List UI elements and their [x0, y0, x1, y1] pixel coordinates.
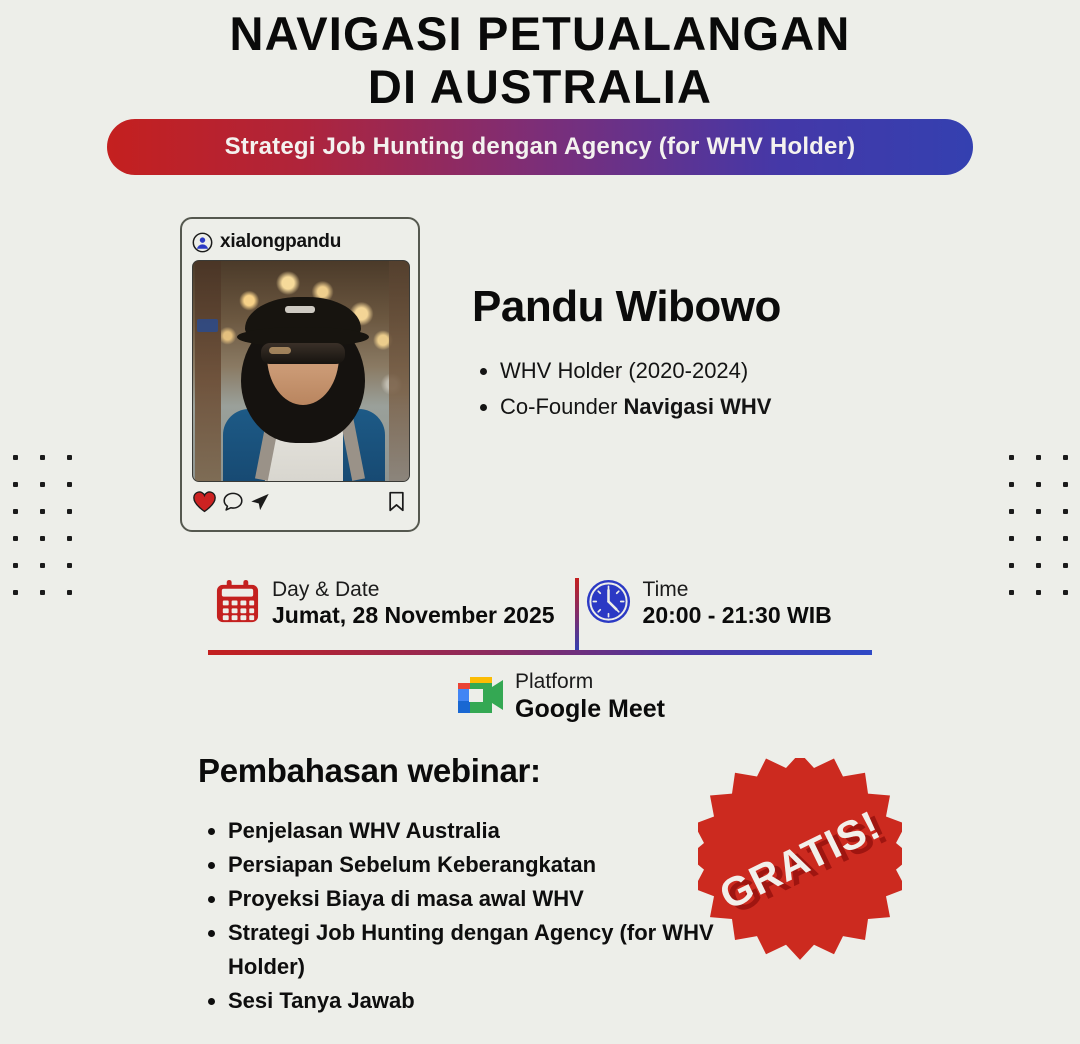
list-item: Co-Founder Navigasi WHV [500, 389, 992, 424]
dot [13, 536, 18, 541]
subtitle-text: Strategi Job Hunting dengan Agency (for … [225, 133, 856, 161]
dot [40, 482, 45, 487]
dot [1036, 590, 1041, 595]
event-date-label: Day & Date [272, 578, 555, 602]
dot [67, 536, 72, 541]
dot [13, 563, 18, 568]
status-badge: GRATIS! [698, 758, 902, 962]
list-item: Penjelasan WHV Australia [228, 814, 718, 848]
clock-icon [585, 578, 632, 630]
event-details-strip: Day & Date Jumat, 28 November 2025 [208, 578, 872, 660]
calendar-icon [214, 578, 261, 630]
credential-bold: Navigasi WHV [624, 394, 772, 419]
photo-sunglasses [261, 343, 345, 364]
platform-value: Google Meet [515, 694, 665, 724]
dot [1009, 590, 1014, 595]
speaker-photo [192, 260, 410, 482]
dot [67, 482, 72, 487]
dot [1063, 482, 1068, 487]
speaker-name: Pandu Wibowo [472, 283, 992, 331]
dot [67, 509, 72, 514]
dot [40, 455, 45, 460]
title-line-1: NAVIGASI PETUALANGAN [0, 8, 1080, 61]
photo-street-sign [197, 319, 218, 332]
google-meet-icon [452, 673, 504, 722]
platform-label: Platform [515, 670, 665, 694]
dot [1063, 563, 1068, 568]
dot [1036, 482, 1041, 487]
agenda-list: Penjelasan WHV Australia Persiapan Sebel… [198, 814, 718, 1019]
decorative-dots-left [0, 455, 72, 595]
dot [13, 482, 18, 487]
list-item: WHV Holder (2020-2024) [500, 353, 992, 388]
agenda-title: Pembahasan webinar: [198, 752, 718, 790]
vertical-divider [575, 578, 579, 650]
list-item: Persiapan Sebelum Keberangkatan [228, 848, 718, 882]
event-date-block: Day & Date Jumat, 28 November 2025 [214, 578, 555, 630]
instagram-card-header: xialongpandu [192, 228, 408, 256]
dot [1009, 455, 1014, 460]
dot [1063, 536, 1068, 541]
event-time-label: Time [643, 578, 832, 602]
dot [1009, 536, 1014, 541]
photo-pillar-left [195, 261, 221, 481]
heart-icon[interactable] [192, 490, 217, 518]
photo-hat-logo [285, 306, 315, 313]
dot [67, 455, 72, 460]
dot [40, 563, 45, 568]
list-item: Strategi Job Hunting dengan Agency (for … [228, 916, 718, 984]
credential-text: Co-Founder [500, 394, 624, 419]
dot [1036, 536, 1041, 541]
dot [1063, 509, 1068, 514]
dot [1063, 455, 1068, 460]
event-time-block: Time 20:00 - 21:30 WIB [585, 578, 832, 630]
agenda-block: Pembahasan webinar: Penjelasan WHV Austr… [198, 752, 718, 1019]
instagram-action-bar [192, 491, 408, 517]
event-date-text: Day & Date Jumat, 28 November 2025 [272, 578, 555, 630]
credential-text: WHV Holder (2020-2024) [500, 358, 748, 383]
event-time-value: 20:00 - 21:30 WIB [643, 602, 832, 630]
subtitle-banner: Strategi Job Hunting dengan Agency (for … [107, 119, 973, 175]
platform-text: Platform Google Meet [515, 670, 665, 724]
comment-icon[interactable] [222, 491, 244, 518]
speaker-info: Pandu Wibowo WHV Holder (2020-2024) Co-F… [472, 283, 992, 424]
title-line-2: DI AUSTRALIA [0, 61, 1080, 114]
profile-circle-icon [192, 232, 213, 253]
instagram-card: xialongpandu [180, 217, 420, 532]
dot [1009, 509, 1014, 514]
dot [1009, 563, 1014, 568]
dot [67, 590, 72, 595]
platform-block: Platform Google Meet [452, 670, 665, 724]
list-item: Sesi Tanya Jawab [228, 984, 718, 1018]
share-icon[interactable] [249, 491, 271, 518]
decorative-dots-right [1009, 455, 1068, 595]
dot [1036, 455, 1041, 460]
event-time-text: Time 20:00 - 21:30 WIB [643, 578, 832, 630]
dot [40, 536, 45, 541]
instagram-username: xialongpandu [220, 231, 341, 253]
dot [40, 509, 45, 514]
speaker-credentials: WHV Holder (2020-2024) Co-Founder Naviga… [472, 353, 992, 423]
dot [13, 455, 18, 460]
dot [1036, 563, 1041, 568]
dot [1063, 590, 1068, 595]
list-item: Proyeksi Biaya di masa awal WHV [228, 882, 718, 916]
bookmark-icon[interactable] [385, 490, 408, 518]
dot [13, 590, 18, 595]
horizontal-divider [208, 650, 872, 655]
event-date-value: Jumat, 28 November 2025 [272, 602, 555, 630]
dot [13, 509, 18, 514]
dot [67, 563, 72, 568]
dot [1009, 482, 1014, 487]
poster-canvas: NAVIGASI PETUALANGAN DI AUSTRALIA Strate… [0, 0, 1080, 1044]
dot [40, 590, 45, 595]
photo-pillar-right [389, 261, 409, 481]
dot [1036, 509, 1041, 514]
page-title: NAVIGASI PETUALANGAN DI AUSTRALIA [0, 8, 1080, 113]
